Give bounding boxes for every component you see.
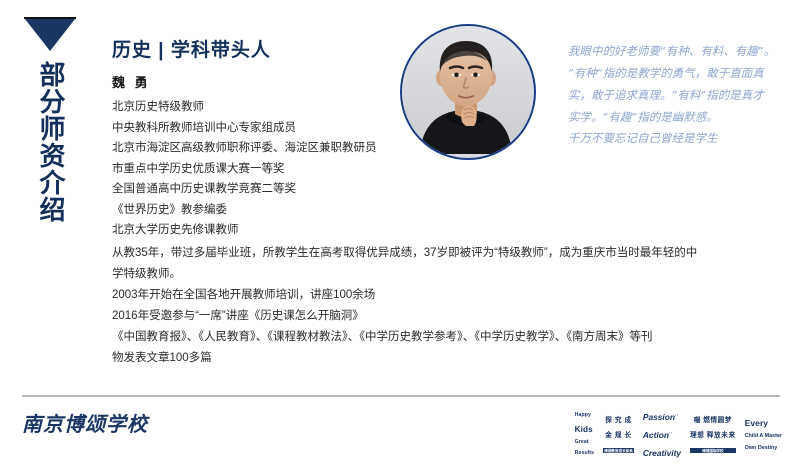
badge-line: Child A Master: [745, 434, 782, 440]
badge-passion-future: 嘣 燃情圆梦 理想 释放未来 博颂国际学校: [690, 410, 736, 461]
badge-line: Every: [745, 419, 782, 428]
badge-line: Great: [575, 440, 594, 446]
quote-panel: 我眼中的好老师要“有种、有料、有趣”。 “有种”指的是教学的勇气，敢于直面真 实…: [568, 40, 790, 149]
dots-icon: ::: [669, 431, 673, 435]
badge-line: 博颂国际学校: [690, 448, 736, 453]
quote-line: 我眼中的好老师要“有种、有料、有趣”。: [568, 40, 790, 62]
badge-line: 探 究 成: [603, 417, 634, 424]
list-item: 中央教科所教师培训中心专家组成员: [112, 118, 412, 139]
list-item: 北京市海淀区高级教师职称评委、海淀区兼职教研员: [112, 138, 412, 159]
badge-line: Results: [575, 451, 594, 457]
quote-line: “有种”指的是教学的勇气，敢于直面真: [568, 62, 790, 84]
badge-every-child-a-master: Every Child A Master Own Destiny: [745, 413, 782, 458]
badge-happy-kids-great-results: Happy Kids Great Results: [575, 407, 594, 463]
bio-line: 《中国教育报》、《人民教育》、《课程教材教法》、《中学历史教学参考》、《中学历史…: [112, 327, 782, 348]
badge-line: 金 规 长: [603, 432, 634, 439]
quote-line: 实，敢于追求真理。“有料”指的是真才: [568, 84, 790, 106]
badge-line: Own Destiny: [745, 446, 782, 452]
badge-line: Kids: [575, 425, 594, 434]
badge-line: Action::: [643, 431, 681, 440]
footer-divider: [22, 395, 780, 397]
portrait-photo: [402, 26, 530, 154]
teacher-name: 魏 勇: [112, 72, 402, 91]
page-title: 历史 | 学科带头人: [112, 40, 402, 63]
avatar: [400, 24, 536, 160]
list-item: 全国普通高中历史课教学竞赛二等奖: [112, 179, 412, 200]
list-item: 北京历史特级教师: [112, 97, 412, 118]
header: 历史 | 学科带头人 魏 勇: [112, 40, 402, 91]
dots-icon: ::: [675, 413, 679, 417]
triangle-down-icon: [23, 8, 77, 52]
bio-line: 2003年开始在全国各地开展教师培训，讲座100余场: [112, 285, 782, 306]
quote-line: 千万不要忘记自己曾经是学生: [568, 128, 790, 149]
credentials-list: 北京历史特级教师 中央教科所教师培训中心专家组成员 北京市海淀区高级教师职称评委…: [112, 97, 412, 241]
sidebar-banner: 部分师资介绍: [14, 8, 86, 268]
badge-passion-action-creativity: Passion:: Action:: Creativity: [643, 404, 681, 466]
bio-line: 物发表文章100多篇: [112, 348, 782, 369]
badge-line: Happy: [575, 413, 594, 419]
bio-line: 2016年受邀参与“一席”讲座《历史课怎么开脑洞》: [112, 306, 782, 327]
badge-line: 嘣 燃情圆梦: [690, 417, 736, 424]
badge-line: 理想 释放未来: [690, 432, 736, 439]
list-item: 北京大学历史先修课教师: [112, 220, 412, 241]
list-item: 《世界历史》教参编委: [112, 200, 412, 221]
badge-explore-grow: 探 究 成 金 规 长 博颂教育成长体系: [603, 410, 634, 461]
slide-canvas: 部分师资介绍 历史 | 学科带头人 魏 勇 北京历史特级教师 中央教科所教师培训…: [0, 0, 800, 450]
sidebar-banner-title: 部分师资介绍: [36, 61, 64, 223]
list-item: 市重点中学历史优质课大赛一等奖: [112, 159, 412, 180]
quote-line: 实学。“有趣”指的是幽默感。: [568, 106, 790, 128]
footer-badges: Happy Kids Great Results 探 究 成 金 规 长 博颂教…: [575, 404, 782, 466]
badge-line: Passion::: [643, 413, 681, 422]
biography-text: 从教35年，带过多届毕业班，所教学生在高考取得优异成绩，37岁即被评为“特级教师…: [112, 243, 782, 369]
school-logo: 南京博颂学校: [22, 408, 148, 437]
bio-line: 学特级教师。: [112, 264, 782, 285]
badge-line: 博颂教育成长体系: [603, 448, 634, 453]
bio-line: 从教35年，带过多届毕业班，所教学生在高考取得优异成绩，37岁即被评为“特级教师…: [112, 243, 782, 264]
